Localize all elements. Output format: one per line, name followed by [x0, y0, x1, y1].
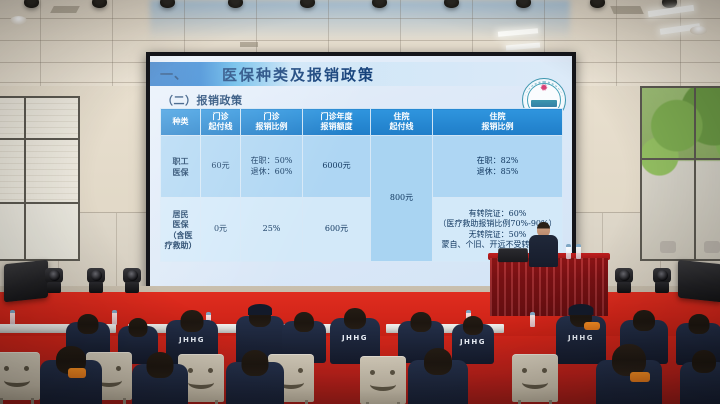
audience-member-foreground — [226, 350, 284, 404]
scooter-outside — [660, 241, 676, 253]
cell-inpatient-deductible-merged: 800元 — [371, 136, 433, 262]
ceiling-downlight — [24, 0, 39, 8]
slide-subtitle: （二）报销政策 — [162, 92, 243, 108]
water-bottle — [576, 244, 581, 259]
uniform-logo-text: JHHG — [330, 334, 380, 342]
cell-inpatient-ratio-employee: 在职：82% 退休：85% — [433, 136, 563, 198]
cap — [248, 304, 272, 315]
water-bottle — [530, 312, 535, 327]
smoke-detector — [10, 16, 27, 25]
water-bottle — [112, 310, 117, 325]
table-header-row: 种类 门诊 起付线 门诊 报销比例 门诊年度 报销额度 住院 起付线 住院 报销… — [161, 109, 563, 136]
ceiling-panel-light — [506, 43, 540, 51]
uniform-logo-text: JHHG — [452, 338, 494, 346]
presenter — [528, 222, 558, 266]
cell-outpatient-ratio-resident: 25% — [241, 198, 303, 262]
cell-outpatient-deductible-resident: 0元 — [201, 198, 241, 262]
window-right — [640, 86, 720, 261]
cell-outpatient-cap-employee: 6000元 — [303, 136, 371, 198]
emblem-star-icon: ✹ — [540, 84, 548, 94]
audience-chair[interactable] — [512, 354, 558, 402]
window-left — [0, 96, 80, 261]
slide-title-number: 一、 — [160, 64, 188, 83]
audience-member-foreground — [132, 352, 188, 404]
audience-chair[interactable] — [360, 356, 406, 404]
moving-head-light — [614, 268, 634, 294]
th-outpatient-ratio: 门诊 报销比例 — [241, 109, 303, 136]
uniform-logo-text: JHHG — [556, 334, 606, 342]
hi-vis-collar — [68, 368, 86, 378]
stage-speaker-left — [4, 260, 48, 303]
cell-outpatient-deductible-employee: 60元 — [201, 136, 241, 198]
presenter-laptop — [498, 248, 529, 262]
moving-head-light — [652, 268, 672, 294]
moving-head-light — [122, 268, 142, 294]
th-inpatient-deductible: 住院 起付线 — [371, 109, 433, 136]
cell-outpatient-ratio-employee: 在职：50% 退休：60% — [241, 136, 303, 198]
conference-hall-photo: 一、 医保种类及报销政策 ✹ （二）报销政策 种类 门诊 起付线 — [0, 0, 720, 404]
cell-kind-employee: 职工 医保 — [161, 136, 201, 198]
ceiling-vent — [240, 42, 258, 47]
th-kind: 种类 — [161, 109, 201, 136]
audience-member: JHHG — [330, 308, 380, 360]
water-bottle — [10, 310, 15, 325]
water-bottle — [566, 244, 571, 259]
window-outside-view — [642, 88, 720, 259]
window-blind — [0, 98, 78, 201]
audience-member-foreground — [596, 344, 662, 404]
moving-head-light — [86, 268, 106, 294]
ceiling-downlight — [590, 0, 605, 8]
cap — [569, 304, 594, 315]
audience-member-foreground — [408, 348, 468, 404]
ceiling-vent — [50, 6, 80, 13]
moving-head-light — [44, 268, 64, 294]
slide-title-bar: 一、 医保种类及报销政策 — [150, 62, 572, 86]
reimbursement-policy-table: 种类 门诊 起付线 门诊 报销比例 门诊年度 报销额度 住院 起付线 住院 报销… — [160, 108, 563, 262]
audience-member-foreground — [680, 350, 720, 404]
cell-kind-resident: 居民 医保 （含医 疗救助） — [161, 198, 201, 262]
audience-member — [282, 312, 326, 360]
cell-outpatient-cap-resident: 600元 — [303, 198, 371, 262]
stage-speaker-right — [678, 260, 720, 303]
presenter-body — [529, 235, 558, 267]
th-inpatient-ratio: 住院 报销比例 — [433, 109, 563, 136]
ceiling-vent — [610, 6, 644, 14]
smoke-detector — [690, 26, 707, 35]
hi-vis-collar — [584, 322, 600, 330]
th-outpatient-deductible: 门诊 起付线 — [201, 109, 241, 136]
slide-title: 医保种类及报销政策 — [222, 64, 375, 85]
hi-vis-collar — [630, 372, 650, 382]
ceiling-downlight — [92, 0, 107, 8]
audience-chair[interactable] — [0, 352, 40, 400]
scooter-outside — [704, 241, 720, 253]
th-outpatient-cap: 门诊年度 报销额度 — [303, 109, 371, 136]
table-row: 职工 医保 60元 在职：50% 退休：60% 6000元 800元 在职：82… — [161, 136, 563, 198]
uniform-logo-text: JHHG — [166, 336, 218, 344]
